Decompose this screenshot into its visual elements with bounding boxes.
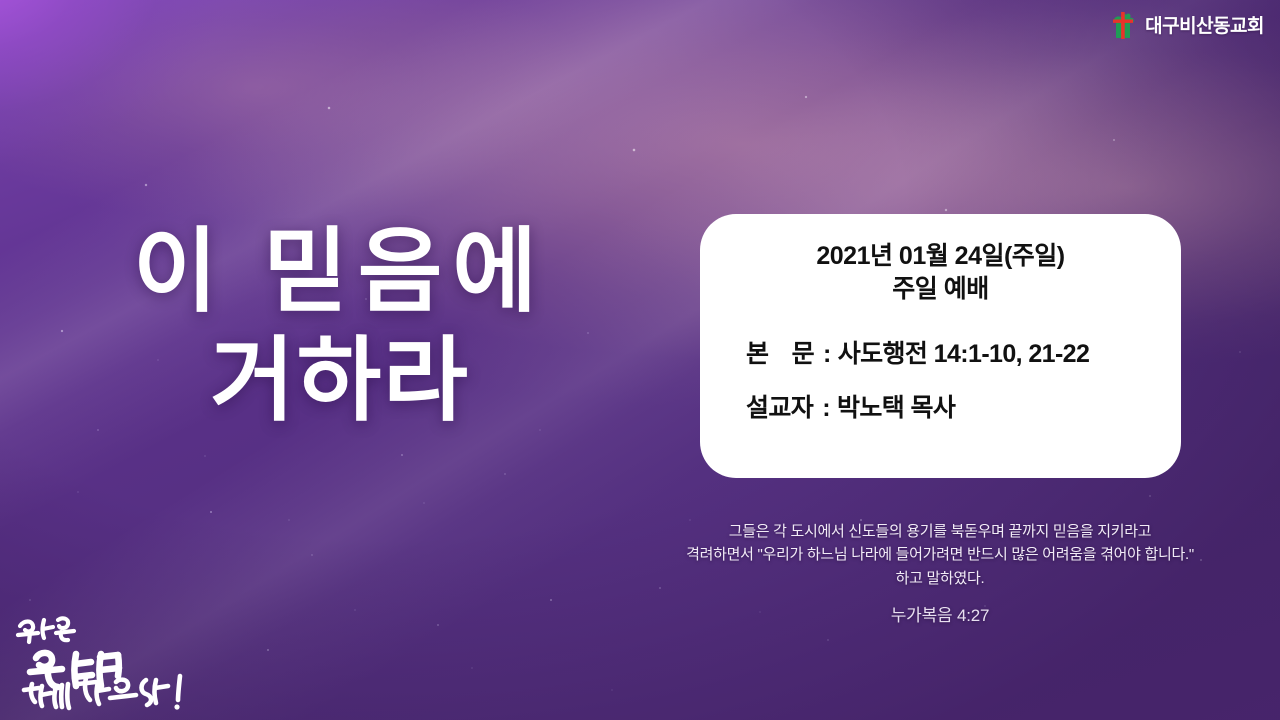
scripture-passage-label: 본 문 [746, 342, 814, 367]
sermon-title-line-2: 거하라 [0, 327, 680, 436]
service-date-label: 2021년 01월 24일(주일) [734, 240, 1147, 273]
preacher-separator: : [822, 396, 830, 421]
service-info-card: 2021년 01월 24일(주일) 주일 예배 본 문 : 사도행전 14:1-… [700, 214, 1181, 478]
church-logo: 대구비산동교회 [1109, 9, 1264, 39]
preacher-label: 설교자 [746, 396, 813, 421]
scripture-line-1: 그들은 각 도시에서 신도들의 용기를 북돋우며 끝까지 믿음을 지키라고 [600, 520, 1280, 543]
worship-slide: 대구비산동교회 이 믿음에 거하라 2021년 01월 24일(주일) 주일 예… [0, 0, 1280, 720]
handwritten-campaign-calligraphy-icon: 우리를 회복하게 하소서! [6, 602, 202, 712]
sermon-title: 이 믿음에 거하라 [0, 218, 680, 435]
preacher-row: 설교자 : 박노택 목사 [746, 396, 1147, 421]
sermon-title-line-1: 이 믿음에 [0, 218, 680, 327]
scripture-passage-label-char-1: 본 [746, 342, 768, 367]
service-card-heading: 2021년 01월 24일(주일) 주일 예배 [734, 240, 1147, 306]
scripture-reference: 누가복음 4:27 [600, 601, 1280, 626]
scripture-passage-value: 사도행전 14:1-10, 21-22 [838, 342, 1090, 367]
campaign-calligraphy-text: 우리를 회복하게 하소서! [6, 712, 7, 713]
scripture-passage-separator: : [823, 342, 831, 367]
service-name-label: 주일 예배 [734, 273, 1147, 306]
preacher-value: 박노택 목사 [837, 396, 955, 421]
church-cross-logo-icon [1109, 9, 1137, 39]
scripture-line-3: 하고 말하였다. [600, 567, 1280, 590]
service-card-rows: 본 문 : 사도행전 14:1-10, 21-22 설교자 : 박노택 목사 [734, 342, 1147, 421]
church-name-label: 대구비산동교회 [1145, 11, 1264, 38]
scripture-passage-label-char-2: 문 [792, 342, 814, 367]
scripture-passage-row: 본 문 : 사도행전 14:1-10, 21-22 [746, 342, 1147, 367]
scripture-line-2: 격려하면서 "우리가 하느님 나라에 들어가려면 반드시 많은 어려움을 겪어야… [600, 543, 1280, 566]
scripture-passage: 그들은 각 도시에서 신도들의 용기를 북돋우며 끝까지 믿음을 지키라고 격려… [600, 520, 1280, 590]
